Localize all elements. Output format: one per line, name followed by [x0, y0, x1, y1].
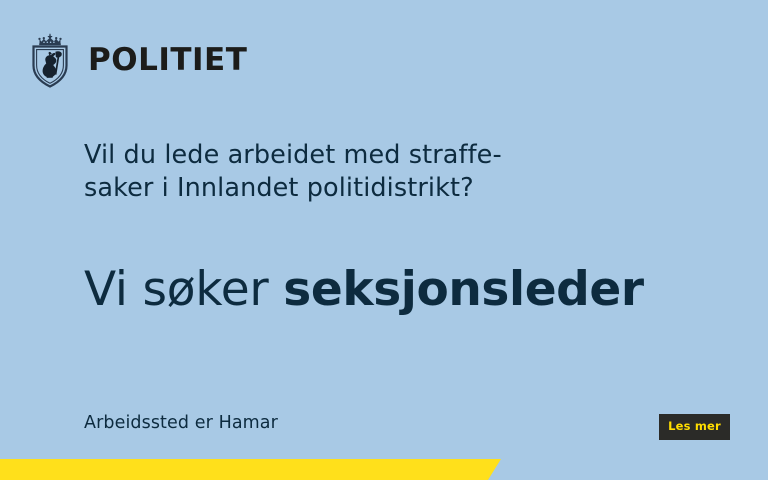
headline-bold-part: seksjonsleder [283, 262, 643, 317]
subheading: Vil du lede arbeidet med straffe- saker … [84, 139, 644, 205]
page-title: Vi søker seksjonsleder [84, 264, 644, 316]
politiet-logo: POLITIET [26, 32, 247, 88]
workplace-location-text: Arbeidssted er Hamar [84, 413, 278, 433]
headline-light-part: Vi søker [84, 262, 283, 317]
politiet-wordmark: POLITIET [88, 45, 247, 76]
norwegian-coat-of-arms-icon [26, 32, 74, 88]
les-mer-button[interactable]: Les mer [659, 414, 730, 440]
yellow-accent-band [0, 459, 501, 480]
les-mer-button-label: Les mer [668, 421, 721, 433]
subheading-line-1: Vil du lede arbeidet med straffe- [84, 139, 644, 172]
recruitment-banner: POLITIET Vil du lede arbeidet med straff… [0, 0, 768, 480]
subheading-line-2: saker i Innlandet politidistrikt? [84, 172, 644, 205]
